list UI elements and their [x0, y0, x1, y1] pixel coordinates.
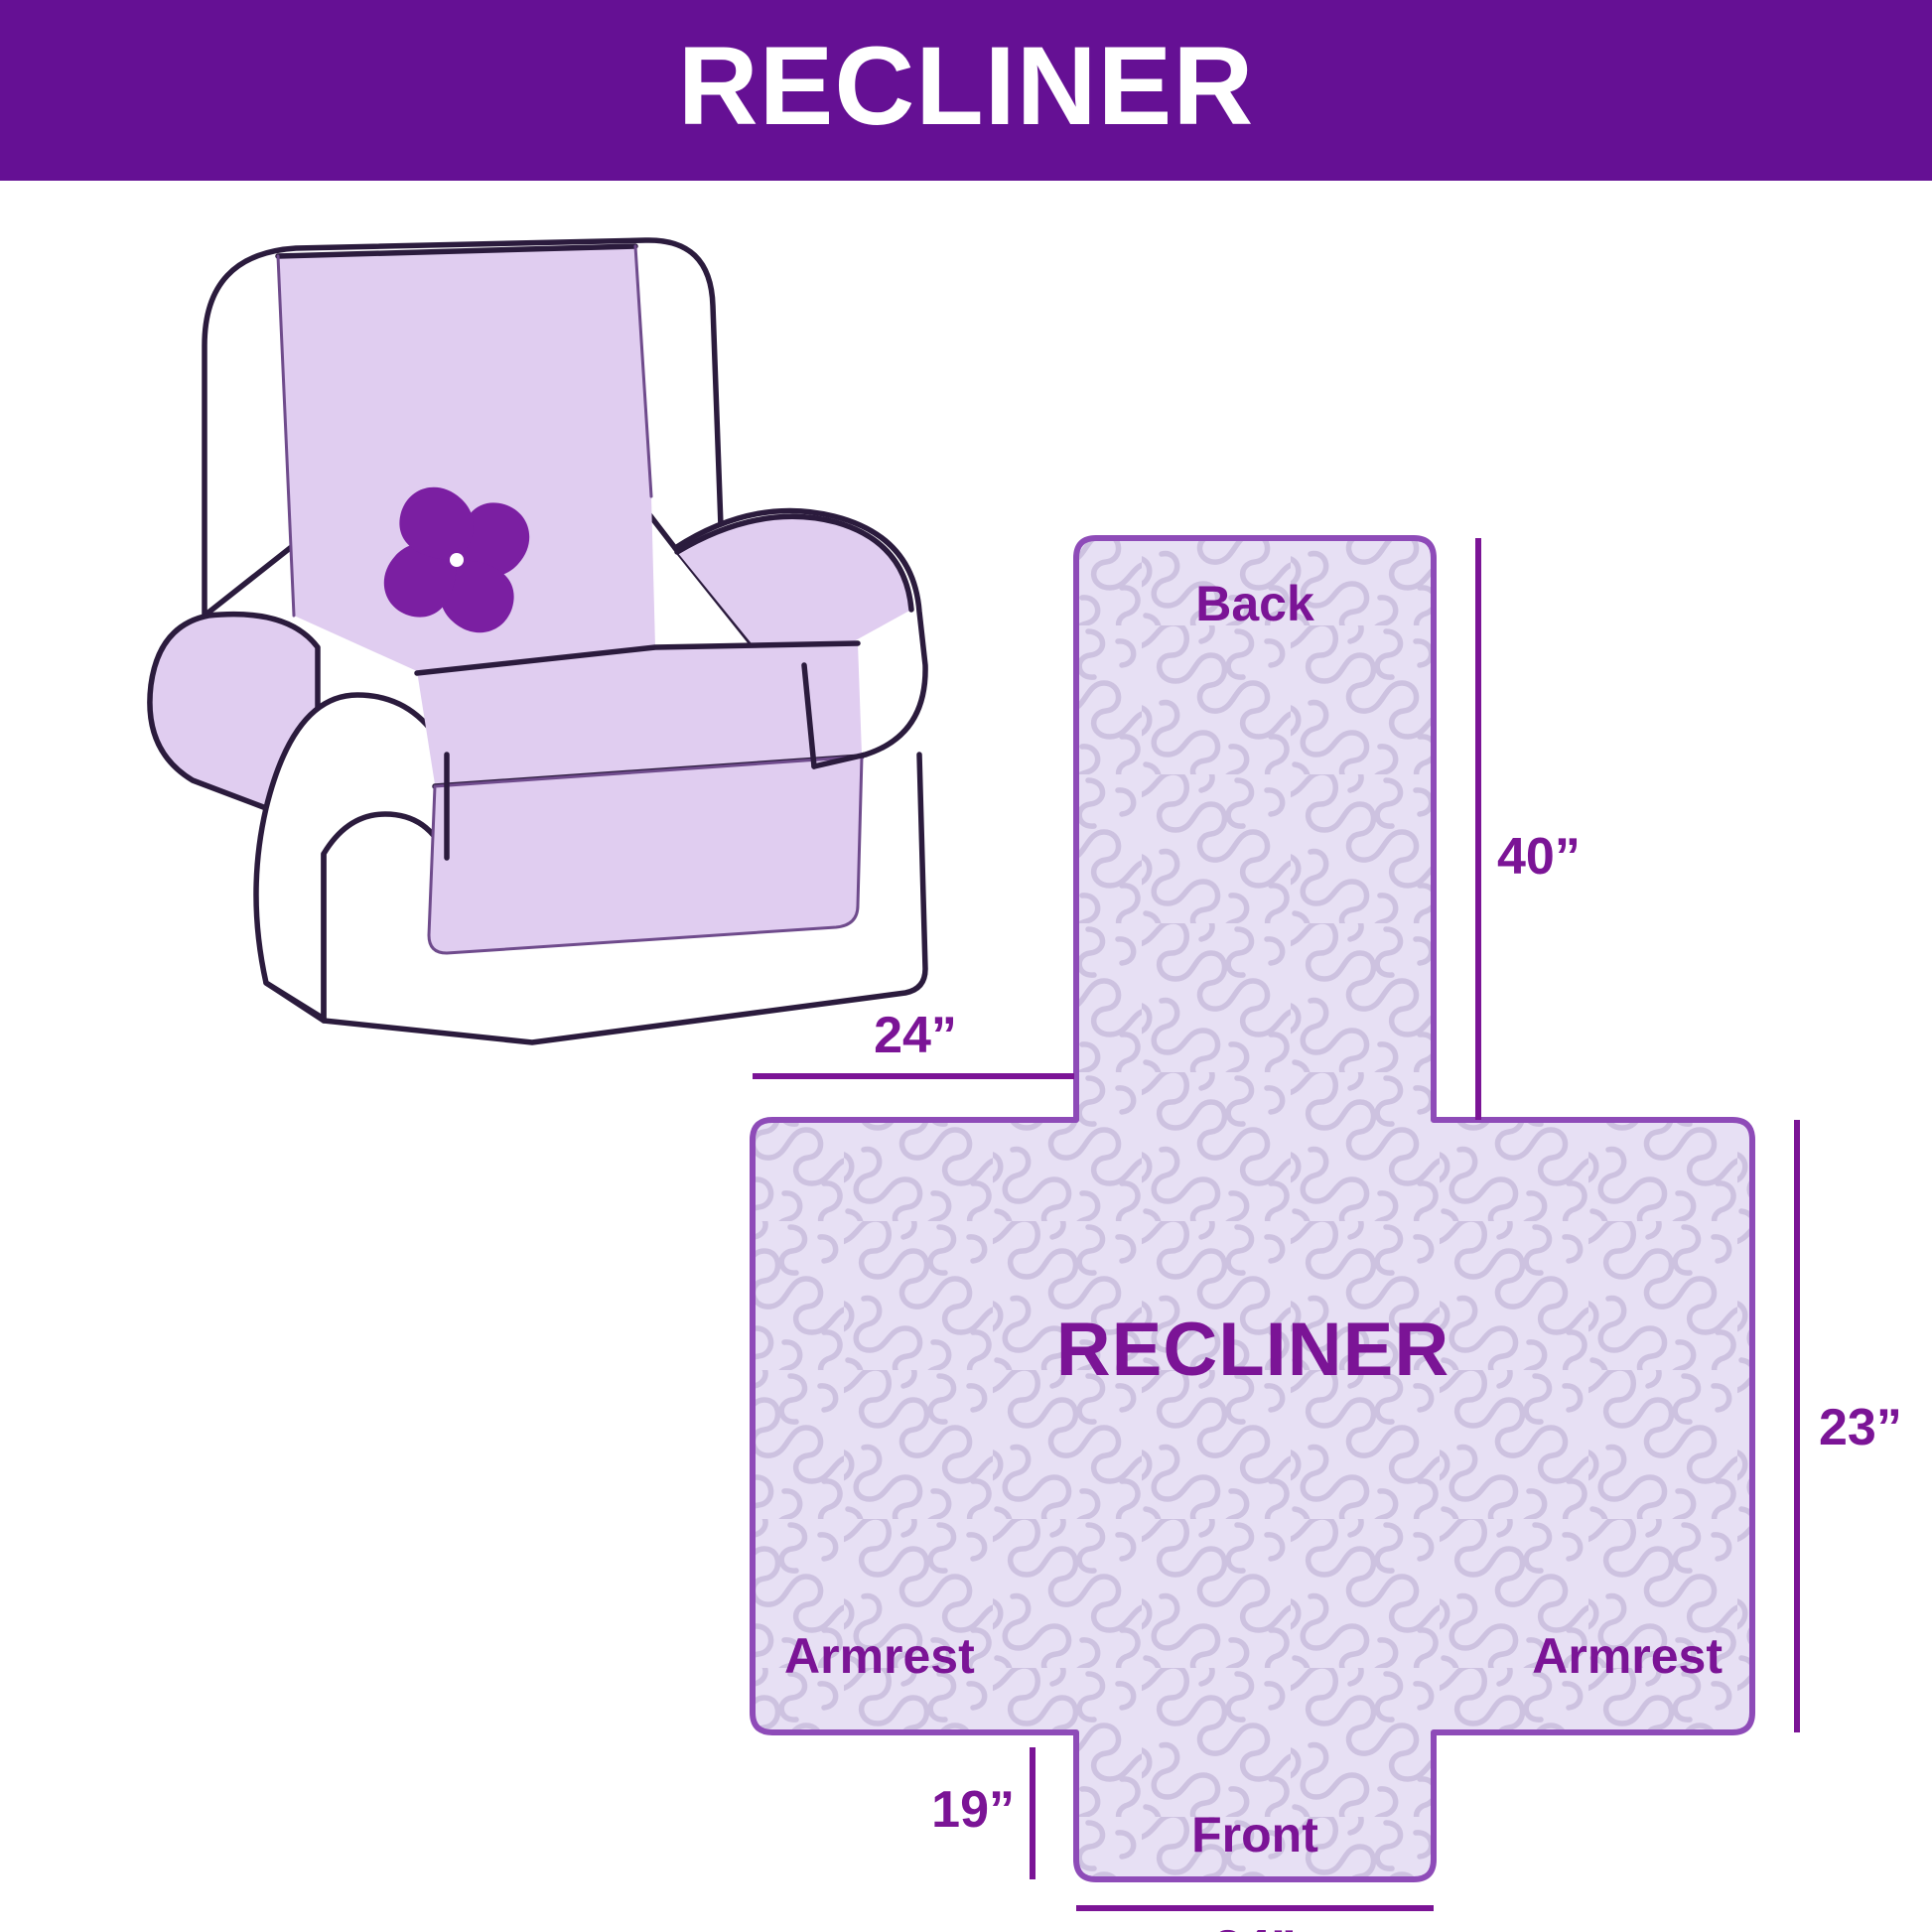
dim-label-40: 40”: [1497, 828, 1581, 886]
label-recliner-center: RECLINER: [1056, 1308, 1449, 1392]
dim-label-19: 19”: [931, 1781, 1015, 1839]
dim-label-23: 23”: [1819, 1399, 1902, 1456]
page-title: RECLINER: [0, 0, 1932, 181]
dim-label-24-bottom: 24”: [1213, 1920, 1297, 1932]
pinwheel-fan-logo: [384, 487, 529, 632]
label-back: Back: [1195, 576, 1314, 631]
label-armrest-left: Armrest: [784, 1628, 975, 1684]
label-armrest-right: Armrest: [1532, 1628, 1723, 1684]
dim-label-24-top: 24”: [874, 1007, 957, 1064]
product-spec-page: RECLINER .co { fill: none; stroke: #2b1b…: [0, 0, 1932, 1932]
header-band: RECLINER: [0, 0, 1932, 181]
cross-shape-diagram: .edge { fill: url(#quilt); stroke: #8e4b…: [695, 477, 1932, 1932]
label-front: Front: [1191, 1807, 1318, 1863]
